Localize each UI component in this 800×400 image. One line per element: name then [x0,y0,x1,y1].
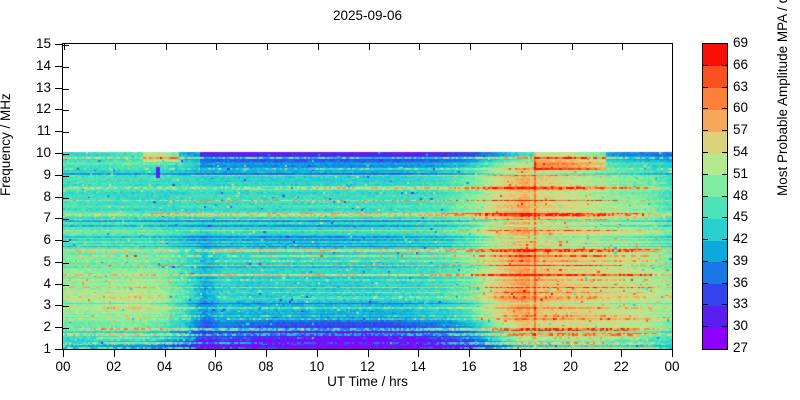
y-tick-label-3: 3 [43,298,51,312]
colorbar-label-48: 48 [733,189,748,203]
colorbar-tick-left-60 [703,108,708,109]
y-tick-label-9: 9 [43,168,51,182]
colorbar-tick-right-54 [722,152,727,153]
y-tick-label-7: 7 [43,211,51,225]
colorbar-segment-11 [703,88,727,110]
x-tick-9 [520,350,521,357]
y-tick-label-2: 2 [43,320,51,334]
colorbar-tick-left-48 [703,196,708,197]
y-tick-inner-7 [63,219,69,220]
x-tick-top-9 [521,44,522,50]
colorbar-segment-6 [703,197,727,219]
y-tick-inner-8 [63,198,69,199]
x-tick-4 [266,350,267,357]
y-tick-6 [55,240,62,241]
colorbar-title: Most Probable Amplitude MPA / dB [775,0,790,196]
y-tick-inner-4 [63,285,69,286]
y-tick-inner-5 [63,263,69,264]
y-tick-label-6: 6 [43,233,51,247]
y-tick-2 [55,327,62,328]
colorbar-tick-left-30 [703,326,708,327]
colorbar-segment-7 [703,175,727,197]
x-tick-top-6 [369,44,370,50]
x-tick-top-1 [115,44,116,50]
colorbar-segment-13 [703,44,727,66]
colorbar-label-66: 66 [733,58,748,72]
y-tick-1 [55,349,62,350]
x-tick-top-10 [572,44,573,50]
colorbar-label-54: 54 [733,145,748,159]
colorbar-tick-right-45 [722,217,727,218]
y-tick-label-4: 4 [43,277,51,291]
x-tick-6 [368,350,369,357]
colorbar-segment-2 [703,284,727,306]
x-tick-top-0 [64,44,65,50]
colorbar-tick-right-30 [722,326,727,327]
y-tick-inner-9 [63,176,69,177]
x-tick-label-10-5: 10 [297,360,337,374]
plot-area [62,43,673,350]
x-tick-2 [165,350,166,357]
x-tick-1 [114,350,115,357]
y-tick-inner-10 [63,154,69,155]
x-tick-label-12-6: 12 [348,360,388,374]
y-tick-10 [55,153,62,154]
y-tick-inner-11 [63,132,69,133]
colorbar-tick-left-51 [703,174,708,175]
x-axis-title: UT Time / hrs [62,374,673,389]
colorbar-tick-right-57 [722,130,727,131]
colorbar-tick-right-66 [722,65,727,66]
page-title: 2025-09-06 [62,8,673,23]
colorbar-label-69: 69 [733,36,748,50]
colorbar-label-45: 45 [733,210,748,224]
x-tick-3 [215,350,216,357]
colorbar-segment-0 [703,327,727,349]
x-tick-5 [317,350,318,357]
x-tick-top-4 [267,44,268,50]
colorbar-label-36: 36 [733,276,748,290]
x-tick-12 [672,350,673,357]
colorbar-tick-right-36 [722,283,727,284]
x-tick-top-11 [622,44,623,50]
y-tick-label-12: 12 [36,102,51,116]
x-tick-label-02-1: 02 [94,360,134,374]
colorbar-label-27: 27 [733,341,748,355]
y-tick-inner-3 [63,306,69,307]
colorbar-tick-left-57 [703,130,708,131]
x-tick-top-2 [166,44,167,50]
y-tick-7 [55,218,62,219]
x-tick-label-20-10: 20 [551,360,591,374]
colorbar-tick-left-33 [703,304,708,305]
colorbar-tick-right-48 [722,196,727,197]
y-tick-inner-14 [63,67,69,68]
x-tick-label-06-3: 06 [195,360,235,374]
colorbar-tick-left-63 [703,87,708,88]
x-tick-label-00-0: 00 [43,360,83,374]
colorbar-label-33: 33 [733,297,748,311]
colorbar-label-42: 42 [733,232,748,246]
y-tick-inner-2 [63,328,69,329]
y-tick-label-14: 14 [36,59,51,73]
colorbar-segment-12 [703,66,727,88]
x-tick-label-16-8: 16 [449,360,489,374]
y-tick-11 [55,131,62,132]
y-tick-8 [55,197,62,198]
y-tick-3 [55,305,62,306]
y-tick-label-15: 15 [36,37,51,51]
colorbar-tick-left-66 [703,65,708,66]
x-tick-top-8 [470,44,471,50]
colorbar-tick-left-36 [703,283,708,284]
y-axis-title: Frequency / MHz [0,93,13,196]
x-tick-label-04-2: 04 [145,360,185,374]
x-tick-label-08-4: 08 [246,360,286,374]
colorbar-label-63: 63 [733,80,748,94]
colorbar-segment-4 [703,240,727,262]
colorbar-tick-left-54 [703,152,708,153]
spectrogram-figure: 2025-09-06 123456789101112131415 0002040… [0,0,800,400]
y-tick-inner-12 [63,110,69,111]
colorbar-segment-1 [703,305,727,327]
y-tick-13 [55,88,62,89]
y-tick-5 [55,262,62,263]
heatmap-canvas [63,44,672,349]
x-tick-label-18-9: 18 [500,360,540,374]
colorbar-tick-left-45 [703,217,708,218]
colorbar-tick-left-39 [703,261,708,262]
y-tick-label-5: 5 [43,255,51,269]
colorbar-tick-right-33 [722,304,727,305]
y-tick-inner-13 [63,89,69,90]
colorbar-segment-9 [703,131,727,153]
colorbar-tick-right-60 [722,108,727,109]
x-tick-10 [571,350,572,357]
colorbar-segment-3 [703,262,727,284]
colorbar-label-30: 30 [733,319,748,333]
x-tick-0 [63,350,64,357]
colorbar-tick-right-39 [722,261,727,262]
x-tick-7 [418,350,419,357]
colorbar-label-51: 51 [733,167,748,181]
x-tick-label-00-12: 00 [652,360,692,374]
x-tick-top-3 [216,44,217,50]
x-tick-top-5 [318,44,319,50]
colorbar-tick-right-42 [722,239,727,240]
y-tick-12 [55,109,62,110]
colorbar-label-39: 39 [733,254,748,268]
y-tick-15 [55,44,62,45]
colorbar-tick-left-42 [703,239,708,240]
colorbar-segment-10 [703,109,727,131]
y-tick-9 [55,175,62,176]
y-tick-label-13: 13 [36,81,51,95]
y-tick-label-11: 11 [37,124,51,138]
x-tick-11 [621,350,622,357]
y-tick-inner-6 [63,241,69,242]
y-tick-14 [55,66,62,67]
x-tick-top-7 [419,44,420,50]
y-tick-label-1: 1 [43,342,51,356]
colorbar-segment-8 [703,153,727,175]
colorbar-segment-5 [703,218,727,240]
y-tick-label-8: 8 [43,190,51,204]
colorbar-tick-right-51 [722,174,727,175]
colorbar-tick-right-63 [722,87,727,88]
y-tick-label-10: 10 [36,146,51,160]
x-tick-8 [469,350,470,357]
y-tick-4 [55,284,62,285]
x-tick-label-22-11: 22 [601,360,641,374]
colorbar-label-60: 60 [733,101,748,115]
colorbar-label-57: 57 [733,123,748,137]
x-tick-label-14-7: 14 [398,360,438,374]
